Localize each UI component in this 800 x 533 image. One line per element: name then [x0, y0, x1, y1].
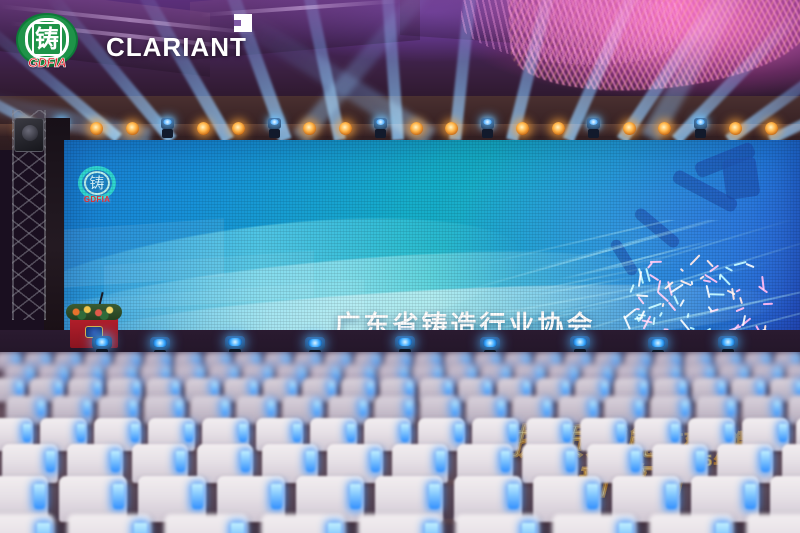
sponsor-mark-icon: [234, 14, 252, 32]
water-bottle: [405, 355, 409, 365]
water-bottle: [37, 523, 50, 533]
water-bottle: [38, 401, 44, 416]
par-can-light: [232, 122, 245, 135]
par-can-light: [765, 122, 778, 135]
water-bottle: [271, 484, 282, 509]
water-bottle: [671, 424, 679, 442]
water-bottle: [666, 484, 677, 509]
water-bottle: [176, 451, 185, 472]
water-bottle: [105, 355, 109, 365]
light-streak: [618, 220, 796, 272]
logo-abbreviation: GDFIA: [76, 195, 118, 204]
water-bottle: [360, 401, 366, 416]
water-bottle: [636, 401, 642, 416]
water-bottle: [455, 424, 463, 442]
water-bottle: [446, 382, 451, 395]
water-bottle: [524, 382, 529, 395]
water-bottle: [185, 424, 193, 442]
water-bottle: [77, 424, 85, 442]
water-bottle: [350, 484, 361, 509]
water-bottle: [328, 523, 341, 533]
water-bottle: [84, 401, 90, 416]
par-can-light: [729, 122, 742, 135]
water-bottle: [329, 382, 334, 395]
water-bottle: [130, 401, 136, 416]
moving-head-light: [160, 118, 175, 138]
water-bottle: [425, 523, 438, 533]
water-bottle: [619, 523, 632, 533]
water-bottle: [728, 401, 734, 416]
water-bottle: [134, 382, 139, 395]
water-bottle: [436, 451, 445, 472]
led-screen: 铸 GDFIA 广东省铸造行业协会 2025年行业发展论坛 广东 · 顺德 | …: [64, 140, 800, 340]
water-bottle: [606, 368, 611, 380]
water-bottle: [563, 382, 568, 395]
par-can-light: [552, 122, 565, 135]
water-bottle: [509, 424, 517, 442]
light-streak: [488, 259, 684, 301]
water-bottle: [498, 401, 504, 416]
water-bottle: [572, 368, 577, 380]
sponsor-wordmark: CLARIANT: [106, 32, 247, 63]
moving-head-light: [693, 118, 708, 138]
par-can-light: [410, 122, 423, 135]
water-bottle: [347, 424, 355, 442]
water-bottle: [617, 424, 625, 442]
moving-head-light: [373, 118, 388, 138]
water-bottle: [95, 382, 100, 395]
par-can-light: [126, 122, 139, 135]
water-bottle: [407, 382, 412, 395]
water-bottle: [34, 484, 45, 509]
par-can-light: [90, 122, 103, 135]
water-bottle: [222, 401, 228, 416]
audience-chair: [746, 514, 800, 533]
par-can-light: [303, 122, 316, 135]
logo-abbreviation: GDFIA: [15, 55, 79, 70]
water-bottle: [56, 382, 61, 395]
water-bottle: [406, 401, 412, 416]
watermark-sponsor-logo: CLARIANT: [106, 32, 247, 63]
water-bottle: [774, 401, 780, 416]
water-bottle: [429, 484, 440, 509]
water-bottle: [212, 382, 217, 395]
water-bottle: [501, 451, 510, 472]
water-bottle: [544, 401, 550, 416]
water-bottle: [231, 523, 244, 533]
water-bottle: [590, 401, 596, 416]
water-bottle: [176, 401, 182, 416]
par-can-light: [445, 122, 458, 135]
water-bottle: [368, 382, 373, 395]
water-bottle: [645, 355, 649, 365]
water-bottle: [290, 382, 295, 395]
water-bottle: [522, 523, 535, 533]
water-bottle: [17, 382, 22, 395]
par-can-light: [516, 122, 529, 135]
water-bottle: [779, 424, 787, 442]
event-photo-stage: 铸 GDFIA 广东省铸造行业协会 2025年行业发展论坛 广东 · 顺德 | …: [0, 0, 800, 533]
water-bottle: [241, 451, 250, 472]
moving-head-light: [267, 118, 282, 138]
logo-character: 铸: [88, 173, 106, 193]
water-bottle: [682, 401, 688, 416]
par-can-light: [658, 122, 671, 135]
water-bottle: [371, 451, 380, 472]
spark-particle: [710, 293, 725, 295]
par-can-light: [623, 122, 636, 135]
water-bottle: [563, 424, 571, 442]
spark-particle: [650, 260, 662, 262]
water-bottle: [615, 355, 619, 365]
water-bottle: [485, 382, 490, 395]
water-bottle: [46, 451, 55, 472]
moving-head-light: [480, 118, 495, 138]
water-bottle: [631, 451, 640, 472]
water-bottle: [134, 523, 147, 533]
water-bottle: [745, 484, 756, 509]
water-bottle: [725, 424, 733, 442]
water-bottle: [251, 382, 256, 395]
water-bottle: [680, 382, 685, 395]
water-bottle: [641, 382, 646, 395]
water-bottle: [135, 355, 139, 365]
water-bottle: [314, 401, 320, 416]
water-bottle: [566, 451, 575, 472]
podium-flowers: [66, 304, 122, 320]
water-bottle: [758, 382, 763, 395]
screen-association-logo: 铸 GDFIA: [76, 166, 118, 210]
water-bottle: [239, 424, 247, 442]
spark-particle: [719, 275, 721, 280]
water-bottle: [401, 424, 409, 442]
water-bottle: [602, 382, 607, 395]
water-bottle: [268, 401, 274, 416]
moving-head-light: [586, 118, 601, 138]
water-bottle: [173, 382, 178, 395]
par-can-light: [197, 122, 210, 135]
water-bottle: [192, 484, 203, 509]
water-bottle: [113, 484, 124, 509]
water-bottle: [111, 451, 120, 472]
water-bottle: [587, 484, 598, 509]
water-bottle: [23, 424, 31, 442]
water-bottle: [131, 424, 139, 442]
line-array-speaker: [14, 118, 44, 152]
water-bottle: [375, 355, 379, 365]
water-bottle: [334, 368, 339, 380]
water-bottle: [696, 451, 705, 472]
logo-character: 铸: [32, 22, 62, 56]
watermark-association-logo: 铸 GDFIA: [16, 13, 78, 75]
water-bottle: [508, 484, 519, 509]
water-bottle: [293, 424, 301, 442]
water-bottle: [62, 368, 67, 380]
water-bottle: [306, 451, 315, 472]
water-bottle: [452, 401, 458, 416]
water-bottle: [719, 382, 724, 395]
par-can-light: [339, 122, 352, 135]
water-bottle: [761, 451, 770, 472]
water-bottle: [716, 523, 729, 533]
